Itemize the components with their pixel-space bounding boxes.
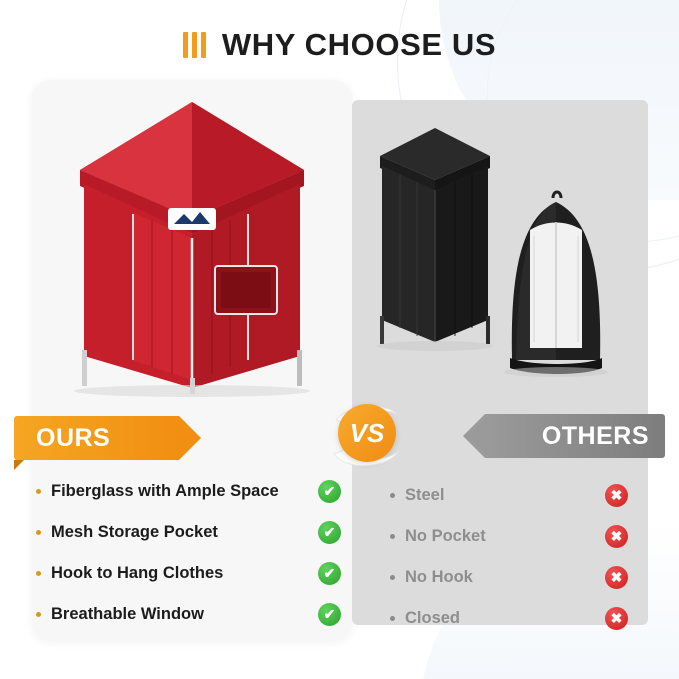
check-icon: ✔ xyxy=(318,603,341,626)
list-item: Steel ✖ xyxy=(390,480,628,511)
ours-feature-list: Fiberglass with Ample Space ✔ Mesh Stora… xyxy=(36,476,341,640)
bullet-icon xyxy=(36,612,41,617)
vs-label: VS xyxy=(350,418,385,449)
check-icon: ✔ xyxy=(318,480,341,503)
others-feature-list: Steel ✖ No Pocket ✖ No Hook ✖ Closed ✖ xyxy=(390,480,628,644)
bullet-icon xyxy=(390,493,395,498)
check-icon: ✔ xyxy=(318,521,341,544)
cross-icon: ✖ xyxy=(605,607,628,630)
list-item: No Pocket ✖ xyxy=(390,521,628,552)
cross-icon: ✖ xyxy=(605,566,628,589)
ours-product-image xyxy=(40,88,345,398)
vs-circle: VS xyxy=(338,404,396,462)
header: WHY CHOOSE US xyxy=(0,22,679,68)
list-item: Breathable Window ✔ xyxy=(36,599,341,630)
bullet-icon xyxy=(390,616,395,621)
others-feature-label: No Hook xyxy=(405,568,605,587)
list-item: Fiberglass with Ample Space ✔ xyxy=(36,476,341,507)
bullet-icon xyxy=(36,530,41,535)
ours-feature-label: Fiberglass with Ample Space xyxy=(51,482,318,501)
bullet-icon xyxy=(390,534,395,539)
check-icon: ✔ xyxy=(318,562,341,585)
bullet-icon xyxy=(36,571,41,576)
bullet-icon xyxy=(36,489,41,494)
bullet-icon xyxy=(390,575,395,580)
comparison-infographic: WHY CHOOSE US xyxy=(0,0,679,679)
others-ribbon: OTHERS xyxy=(485,414,665,458)
vs-badge: VS xyxy=(330,400,402,472)
ours-feature-label: Breathable Window xyxy=(51,605,318,624)
title-accent-bars-icon xyxy=(183,32,206,58)
others-product-image xyxy=(360,110,645,410)
list-item: Closed ✖ xyxy=(390,603,628,634)
list-item: No Hook ✖ xyxy=(390,562,628,593)
ours-ribbon: OURS xyxy=(14,416,179,460)
cross-icon: ✖ xyxy=(605,484,628,507)
page-title: WHY CHOOSE US xyxy=(222,27,496,63)
ours-ribbon-label: OURS xyxy=(36,424,110,453)
cross-icon: ✖ xyxy=(605,525,628,548)
others-feature-label: Steel xyxy=(405,486,605,505)
others-feature-label: Closed xyxy=(405,609,605,628)
list-item: Hook to Hang Clothes ✔ xyxy=(36,558,341,589)
ours-feature-label: Hook to Hang Clothes xyxy=(51,564,318,583)
ours-ribbon-tail xyxy=(14,460,24,470)
ours-feature-label: Mesh Storage Pocket xyxy=(51,523,318,542)
others-ribbon-label: OTHERS xyxy=(542,422,649,451)
others-feature-label: No Pocket xyxy=(405,527,605,546)
list-item: Mesh Storage Pocket ✔ xyxy=(36,517,341,548)
